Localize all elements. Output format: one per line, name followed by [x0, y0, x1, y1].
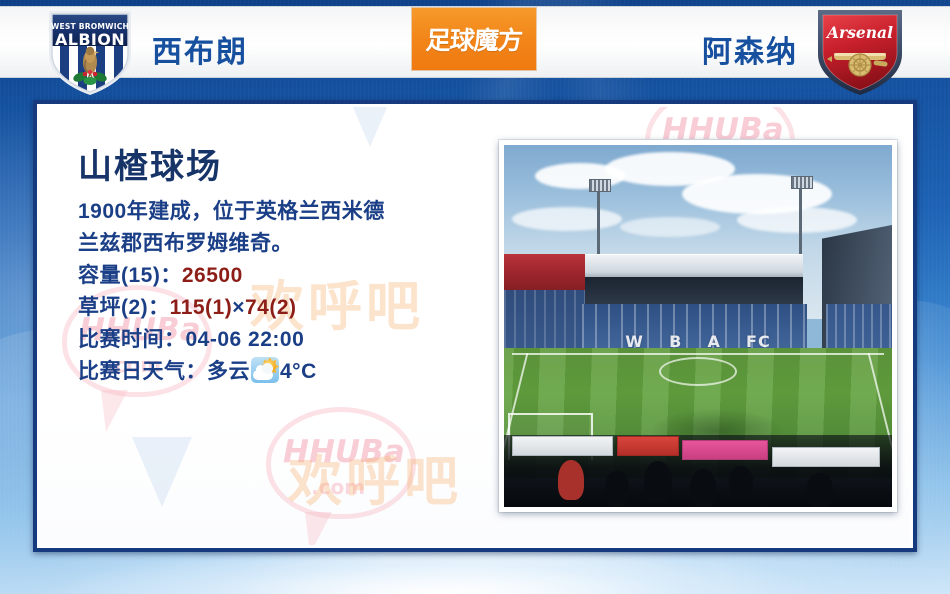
watermark-bubble-text-2: HHUBa — [283, 434, 405, 470]
svg-text:Arsenal: Arsenal — [825, 23, 893, 42]
site-logo-text: 足球魔方 — [425, 21, 524, 57]
main-stand-roof — [585, 254, 802, 279]
home-team-badge[interactable]: WEST BROMWICH ALBION — [42, 4, 138, 101]
floodlight-pylon-left — [597, 185, 600, 257]
spectator-2 — [605, 471, 629, 507]
the-hawthorns-stadium-photo: W B A FC — [504, 145, 892, 507]
spectator-3 — [644, 461, 672, 503]
advert-board-3 — [682, 440, 767, 460]
spectator-4 — [690, 469, 716, 507]
screenshot-root: 西布朗 阿森纳 足球魔方 — [0, 0, 950, 594]
pitch-size-label: 草坪(2) — [78, 296, 148, 319]
capacity-label: 容量(15) — [78, 264, 160, 287]
capacity-row: 容量(15)：26500 — [78, 260, 498, 292]
stadium-photo-frame[interactable]: W B A FC — [499, 140, 897, 512]
spectator-5 — [729, 466, 753, 500]
stadium-info-panel: HHUBa .com HHUBa .com HHUBa .com 欢呼吧 欢呼吧… — [33, 100, 917, 552]
away-team-name: 阿森纳 — [702, 27, 798, 71]
pitch-size-times: × — [232, 296, 245, 319]
pitch-size-row: 草坪(2)：115(1)×74(2) — [78, 292, 498, 324]
stadium-info-block: 山楂球场 1900年建成，位于英格兰西米德 兰兹郡西布罗姆维奇。 容量(15)：… — [78, 149, 498, 388]
home-team-name: 西布朗 — [152, 27, 248, 71]
watermark-arrow-top — [340, 104, 400, 147]
watermark-bubble-domain-2: .com — [311, 475, 365, 499]
spectator-6 — [807, 473, 833, 507]
pitch-goal-line — [512, 353, 884, 355]
pitch-size-separator: ： — [148, 296, 170, 319]
floodlight-head-left — [589, 179, 611, 192]
advert-board-4 — [772, 447, 881, 467]
match-weather-separator: ： — [186, 360, 208, 383]
match-weather-condition: 多云 — [207, 360, 250, 383]
match-time-label: 比赛时间 — [78, 328, 164, 351]
stadium-description-line-1: 1900年建成，位于英格兰西米德 — [78, 196, 498, 228]
west-bromwich-albion-badge-icon: WEST BROMWICH ALBION — [42, 4, 138, 96]
match-time-value: 04-06 22:00 — [186, 328, 305, 351]
main-stand-shade — [585, 277, 802, 306]
stadium-title: 山楂球场 — [78, 149, 498, 186]
advert-board-2 — [617, 436, 679, 456]
watermark-arrow-left — [132, 437, 192, 507]
arsenal-badge-icon: Arsenal — [812, 4, 908, 96]
partly-cloudy-sun-icon — [251, 357, 279, 383]
pitch-length-value: 115(1) — [170, 296, 233, 319]
match-weather-row: 比赛日天气：多云4°C — [78, 356, 498, 388]
pitch-width-value: 74(2) — [245, 296, 297, 319]
watermark-bubble-bottom: HHUBa .com — [266, 407, 416, 519]
site-logo[interactable]: 足球魔方 — [412, 8, 536, 70]
spectator-1 — [558, 460, 584, 500]
watermark-huhuba-bottom: 欢呼吧 — [288, 437, 462, 516]
floodlight-pylon-right — [799, 181, 802, 253]
match-weather-temperature: 4°C — [280, 360, 317, 383]
stadium-description-line-2: 兰兹郡西布罗姆维奇。 — [78, 228, 498, 260]
svg-text:ALBION: ALBION — [55, 30, 125, 49]
cloud-shape — [253, 370, 273, 380]
match-time-row: 比赛时间：04-06 22:00 — [78, 324, 498, 356]
cloud-4 — [512, 207, 622, 231]
pitch-center-circle — [659, 357, 737, 386]
capacity-separator: ： — [160, 264, 182, 287]
floodlight-head-right — [791, 176, 813, 189]
match-weather-label: 比赛日天气 — [78, 360, 186, 383]
cloud-5 — [737, 207, 857, 233]
capacity-value: 26500 — [182, 264, 243, 287]
advert-board-1 — [512, 436, 613, 456]
away-team-badge[interactable]: Arsenal — [812, 4, 908, 101]
match-time-separator: ： — [164, 328, 186, 351]
